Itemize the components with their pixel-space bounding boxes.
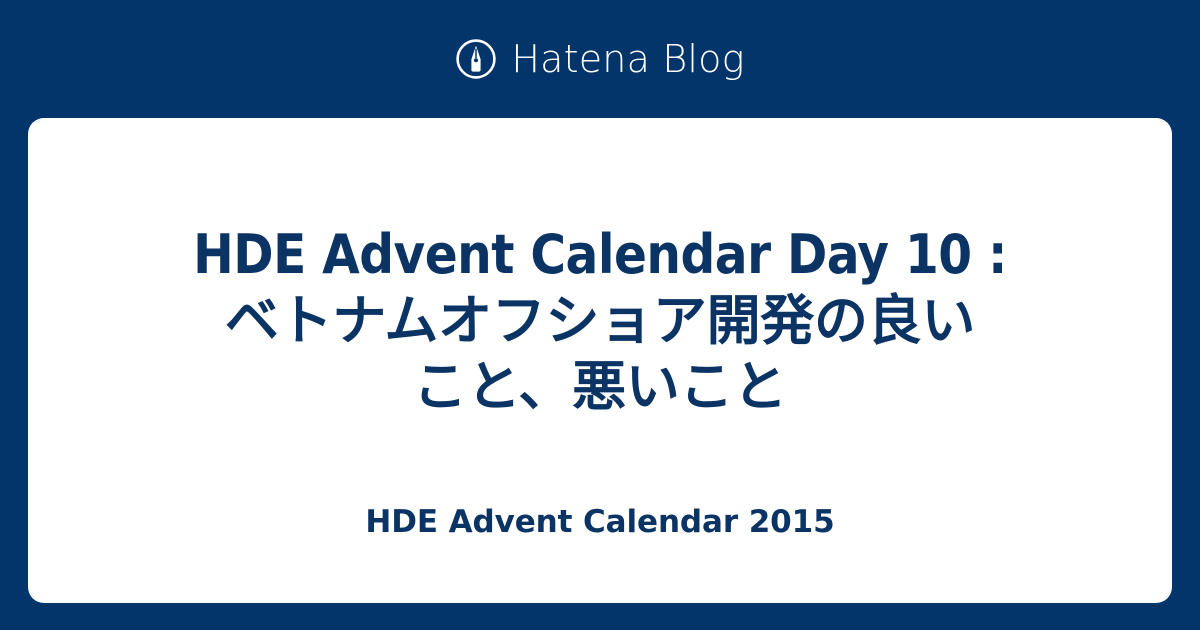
entry-card-inner: HDE Advent Calendar Day 10 : ベトナムオフショア開発…: [28, 118, 1172, 603]
entry-title-line-2: ベトナムオフショア開発の良い: [88, 288, 1112, 354]
brand-bar: Hatena Blog: [0, 0, 1200, 118]
hatena-pen-nib-icon: [455, 38, 497, 80]
blog-name: HDE Advent Calendar 2015: [28, 502, 1172, 542]
entry-title: HDE Advent Calendar Day 10 : ベトナムオフショア開発…: [28, 222, 1172, 420]
entry-title-line-1: HDE Advent Calendar Day 10 :: [88, 222, 1112, 288]
ogp-card-root: Hatena Blog HDE Advent Calendar Day 10 :…: [0, 0, 1200, 630]
brand-name: Hatena Blog: [511, 40, 744, 78]
entry-card: HDE Advent Calendar Day 10 : ベトナムオフショア開発…: [28, 118, 1172, 603]
brand-logo: [455, 38, 497, 80]
entry-title-line-3: こと、悪いこと: [88, 354, 1112, 420]
